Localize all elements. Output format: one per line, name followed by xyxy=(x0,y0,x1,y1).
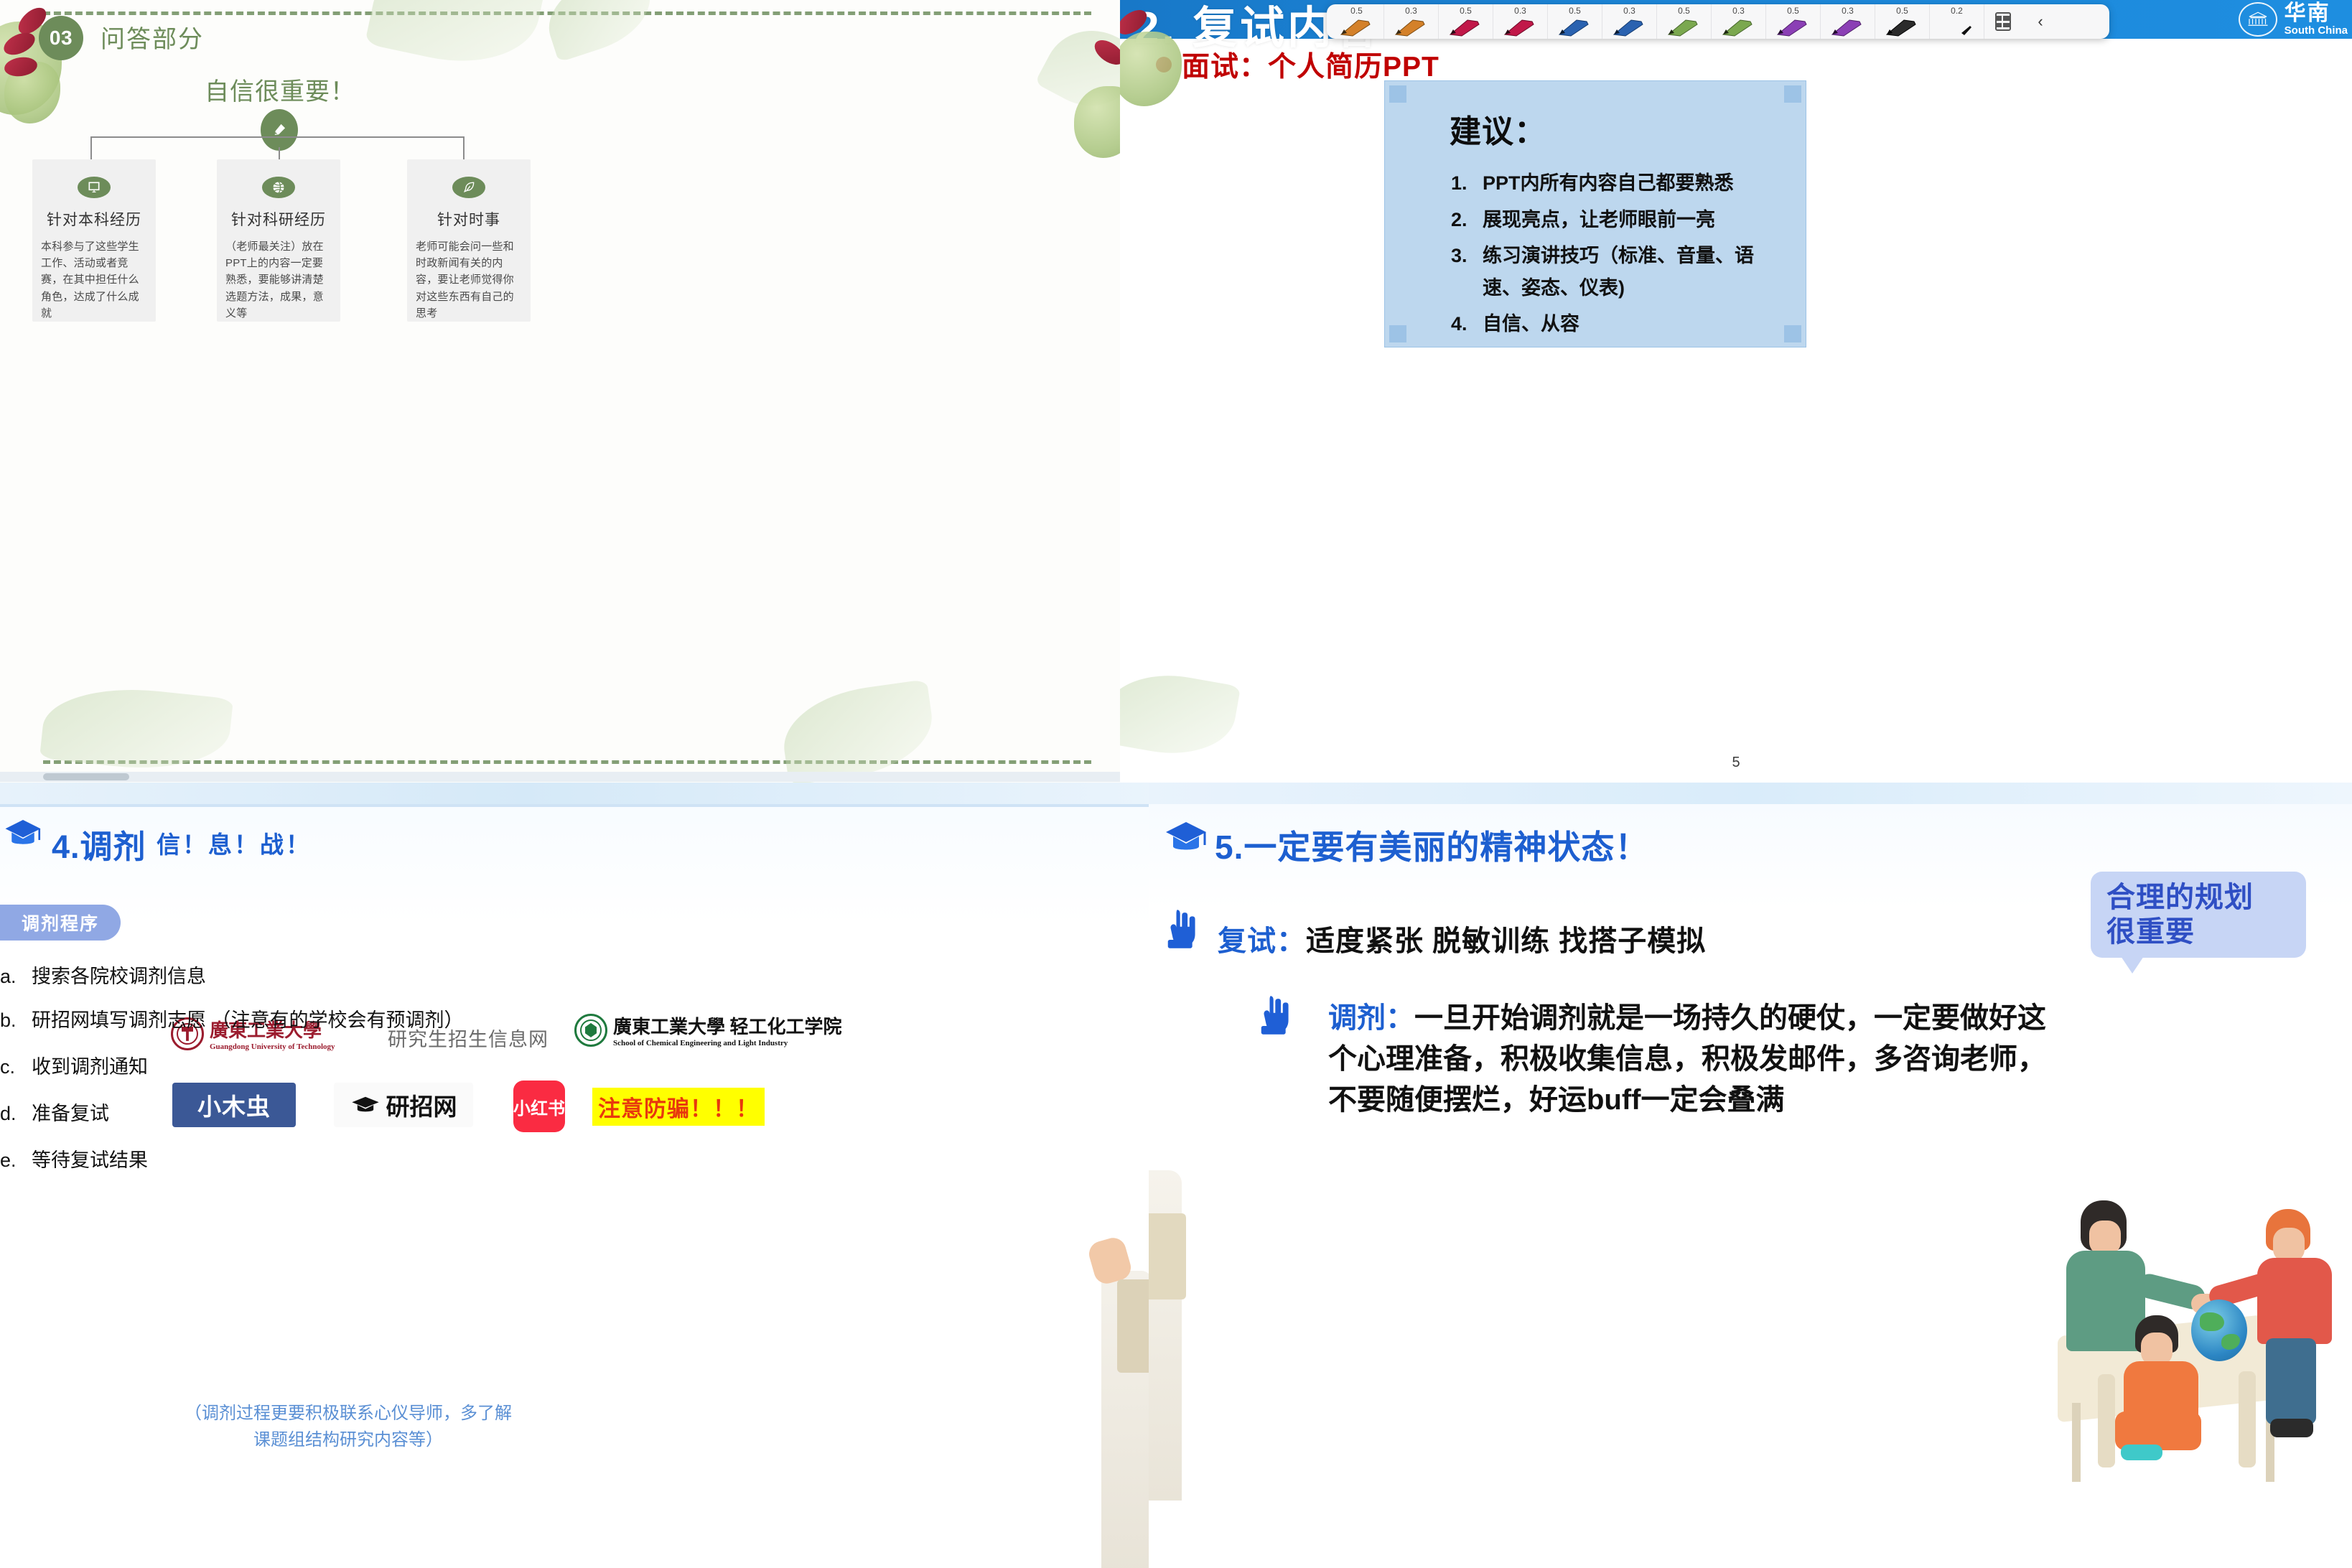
pen-size-label: 0.2 xyxy=(1951,6,1963,15)
university-seal-icon xyxy=(2239,2,2277,37)
dashed-border-bottom xyxy=(43,760,1091,764)
monitor-icon xyxy=(78,177,111,198)
list-item-number: 3. xyxy=(1451,240,1483,304)
spirit-row-1-key: 复试： xyxy=(1218,925,1306,957)
pen-icon xyxy=(1446,16,1486,37)
leaf-decoration xyxy=(1035,13,1120,123)
qa-card-title: 针对科研经历 xyxy=(231,208,326,230)
gdut-chemical-logo: 廣東工業大學 轻工化工学院 School of Chemical Enginee… xyxy=(574,1012,842,1047)
pointing-hand-icon xyxy=(1162,906,1200,949)
list-item: 4. 自信、从容 xyxy=(1451,308,1788,340)
qa-card-current-affairs: 针对时事 老师可能会问一些和时政新闻有关的内容，要让老师觉得你对这些东西有自己的… xyxy=(407,159,531,322)
pen-icon xyxy=(1501,16,1541,37)
pen-tool-6[interactable]: 0.5 xyxy=(1657,4,1712,39)
pen-icon xyxy=(1828,16,1868,37)
interview-heading-row: 面试：个人简历PPT xyxy=(1156,45,1439,85)
gdut-chemical-seal-icon xyxy=(574,1014,607,1047)
pen-size-label: 0.3 xyxy=(1623,6,1635,15)
pen-icon xyxy=(1610,16,1650,37)
list-item-text: 搜索各院校调剂信息 xyxy=(32,961,206,989)
leaf-decoration xyxy=(1120,664,1241,765)
list-item: e. 等待复试结果 xyxy=(0,1144,546,1172)
pen-tool-7[interactable]: 0.3 xyxy=(1712,4,1766,39)
list-item-number: 4. xyxy=(1451,308,1483,340)
gdut-chemical-name-cn: 廣東工業大學 轻工化工学院 xyxy=(613,1012,842,1039)
list-item-text: 练习演讲技巧（标准、音量、语速、姿态、仪表) xyxy=(1483,240,1788,304)
red-dot-icon xyxy=(1156,57,1172,73)
list-item-number: 2. xyxy=(1451,204,1483,236)
pencil-icon xyxy=(261,109,298,151)
slide-qa-panel: 03 问答部分 自信很重要！ 针对本科经历 本科参与了这些学生工作、活动或者竞赛… xyxy=(0,0,1120,783)
pen-tool-2[interactable]: 0.5 xyxy=(1439,4,1493,39)
slide-top-strip xyxy=(0,783,1163,807)
pointing-hand-icon xyxy=(1255,992,1294,1035)
list-item-text: 准备复试 xyxy=(32,1098,109,1126)
list-item-text: 展现亮点，让老师眼前一亮 xyxy=(1483,204,1715,236)
university-name-en: South China xyxy=(2285,25,2348,37)
resize-handle-bottom-left[interactable] xyxy=(1389,325,1406,342)
pen-size-label: 0.5 xyxy=(1787,6,1799,15)
connector-line xyxy=(90,136,92,159)
qa-card-title: 针对本科经历 xyxy=(47,208,141,230)
page-title: 5.一定要有美丽的精神状态！ xyxy=(1215,821,1648,869)
pen-icon xyxy=(1937,16,1977,37)
callout-line-1: 合理的规划 xyxy=(2106,880,2306,915)
pen-size-label: 0.5 xyxy=(1896,6,1908,15)
pen-size-label: 0.3 xyxy=(1405,6,1417,15)
slide-spirit-panel: 5.一定要有美丽的精神状态！ 合理的规划 很重要 复试：适度紧张 脱敏训练 找搭… xyxy=(1149,783,2352,1568)
pen-tool-9[interactable]: 0.3 xyxy=(1821,4,1875,39)
fraud-warning-badge: 注意防骗！！！ xyxy=(592,1088,765,1126)
sphere-icon xyxy=(262,177,295,198)
transfer-procedure-pill: 调剂程序 xyxy=(0,905,121,941)
pen-icon xyxy=(1719,16,1759,37)
list-item: a. 搜索各院校调剂信息 xyxy=(0,961,546,989)
connector-line xyxy=(90,136,464,138)
transfer-note: （调剂过程更要积极联系心仪导师，多了解课题组结构研究内容等） xyxy=(183,1400,513,1453)
pen-tool-5[interactable]: 0.3 xyxy=(1602,4,1657,39)
pen-tool-8[interactable]: 0.5 xyxy=(1766,4,1821,39)
pen-icon xyxy=(1664,16,1704,37)
list-item: b. 研招网填写调剂志愿 （注意有的学校会有预调剂） xyxy=(0,1004,546,1032)
pen-size-label: 0.5 xyxy=(1569,6,1581,15)
connector-line xyxy=(463,136,465,159)
list-item-label: a. xyxy=(0,966,24,988)
callout-bubble: 合理的规划 很重要 xyxy=(2091,872,2306,958)
qa-card-research: 针对科研经历 （老师最关注）放在PPT上的内容一定要熟悉，要能够讲清楚选题方法，… xyxy=(217,159,340,322)
list-item: 2. 展现亮点，让老师眼前一亮 xyxy=(1451,204,1788,236)
slide-top-strip xyxy=(1149,783,2352,804)
qa-card-body: （老师最关注）放在PPT上的内容一定要熟悉，要能够讲清楚选题方法，成果，意义等 xyxy=(225,238,332,322)
chevron-left-icon[interactable]: ‹ xyxy=(2022,4,2059,39)
qa-card-undergraduate: 针对本科经历 本科参与了这些学生工作、活动或者竞赛，在其中担任什么角色，达成了什… xyxy=(32,159,156,322)
list-item-label: b. xyxy=(0,1009,24,1032)
pen-icon xyxy=(1337,16,1377,37)
list-item-text: 自信、从容 xyxy=(1483,308,1579,340)
list-item-text: 收到调剂通知 xyxy=(32,1051,148,1079)
people-around-table-with-globe-illustration xyxy=(2029,1159,2345,1496)
pen-tool-0[interactable]: 0.5 xyxy=(1330,4,1384,39)
berry-decoration xyxy=(1,28,39,59)
list-item-text: 研招网填写调剂志愿 （注意有的学校会有预调剂） xyxy=(32,1004,464,1032)
leaf-decoration xyxy=(778,679,939,783)
suggestion-textbox[interactable]: 建议： 1. PPT内所有内容自己都要熟悉 2. 展现亮点，让老师眼前一亮 3.… xyxy=(1384,80,1806,347)
slide-transfer-panel: 4.调剂 信！息！战！ 调剂程序 廣東工業大學 Guangdong Univer… xyxy=(0,783,1163,1568)
suggestion-list: 1. PPT内所有内容自己都要熟悉 2. 展现亮点，让老师眼前一亮 3. 练习演… xyxy=(1451,167,1788,345)
resize-handle-top-left[interactable] xyxy=(1389,85,1406,103)
transfer-steps-list: a. 搜索各院校调剂信息 b. 研招网填写调剂志愿 （注意有的学校会有预调剂） … xyxy=(0,961,546,1188)
pen-icon xyxy=(1555,16,1595,37)
lab-coat-person-illustration xyxy=(1149,1170,1190,1501)
spirit-row-1: 复试：适度紧张 脱敏训练 找搭子模拟 xyxy=(1218,918,1706,959)
slide-interview-panel: 2. 复试内容 华南 South China 面试：个人简历PPT 建议： 1. xyxy=(1120,0,2352,783)
suggestion-title: 建议： xyxy=(1450,106,1546,151)
list-item: 3. 练习演讲技巧（标准、音量、语速、姿态、仪表) xyxy=(1451,240,1788,304)
page-title: 4.调剂 xyxy=(52,821,146,867)
pen-tool-3[interactable]: 0.3 xyxy=(1493,4,1548,39)
list-item-label: e. xyxy=(0,1149,24,1172)
graduation-cap-icon xyxy=(3,817,43,853)
list-item-label: c. xyxy=(0,1056,24,1078)
berry-decoration xyxy=(3,55,38,78)
list-item: c. 收到调剂通知 xyxy=(0,1051,546,1079)
pen-size-label: 0.3 xyxy=(1732,6,1745,15)
pen-toolbar[interactable]: 0.5 0.3 0.5 0.3 0.5 0.3 0.5 0.3 xyxy=(1327,4,2109,39)
gdut-chemical-name-en: School of Chemical Engineering and Light… xyxy=(613,1039,842,1047)
qa-card-body: 老师可能会问一些和时政新闻有关的内容，要让老师觉得你对这些东西有自己的思考 xyxy=(416,238,522,322)
leaf-decoration xyxy=(538,0,661,62)
slogan-wrapper: 自信很重要！ xyxy=(122,72,438,107)
list-item-text: PPT内所有内容自己都要熟悉 xyxy=(1483,167,1734,200)
pen-tool-11[interactable]: 0.2 xyxy=(1930,4,1984,39)
resize-handle-top-right[interactable] xyxy=(1784,85,1801,103)
university-brand: 华南 South China xyxy=(2239,0,2352,39)
list-item: d. 准备复试 xyxy=(0,1098,546,1126)
university-name-cn: 华南 xyxy=(2285,2,2348,25)
palette-grid-icon[interactable] xyxy=(1984,4,2022,39)
pen-size-label: 0.3 xyxy=(1842,6,1854,15)
list-item-label: d. xyxy=(0,1103,24,1125)
horizontal-scrollbar[interactable] xyxy=(0,772,1120,782)
leaf-decoration xyxy=(365,0,547,78)
page-title: 问答部分 xyxy=(101,19,204,55)
callout-line-2: 很重要 xyxy=(2106,915,2306,949)
feather-icon xyxy=(452,177,485,198)
section-number-badge: 03 xyxy=(39,16,83,60)
spirit-row-2: 调剂：一旦开始调剂就是一场持久的硬仗，一定要做好这个心理准备，积极收集信息，积极… xyxy=(1328,998,2046,1120)
slogan-text: 自信很重要！ xyxy=(122,72,438,107)
spirit-row-2-text: 一旦开始调剂就是一场持久的硬仗，一定要做好这个心理准备，积极收集信息，积极发邮件… xyxy=(1328,1002,2046,1116)
pen-size-label: 0.5 xyxy=(1460,6,1472,15)
pen-size-label: 0.5 xyxy=(1678,6,1690,15)
pen-size-label: 0.5 xyxy=(1350,6,1363,15)
page-subtitle: 信！息！战！ xyxy=(157,826,312,860)
pen-icon xyxy=(1773,16,1814,37)
interview-heading: 面试：个人简历PPT xyxy=(1182,45,1439,85)
pen-icon xyxy=(1391,16,1432,37)
qa-card-body: 本科参与了这些学生工作、活动或者竞赛，在其中担任什么角色，达成了什么成就 xyxy=(41,238,147,322)
list-item-number: 1. xyxy=(1451,167,1483,200)
scrollbar-thumb[interactable] xyxy=(43,773,129,780)
pen-size-label: 0.3 xyxy=(1514,6,1526,15)
spirit-row-1-text: 适度紧张 脱敏训练 找搭子模拟 xyxy=(1306,925,1706,957)
graduation-cap-icon xyxy=(1163,818,1209,860)
spirit-row-2-key: 调剂： xyxy=(1328,1002,1414,1034)
list-item-text: 等待复试结果 xyxy=(32,1144,148,1172)
pen-tool-4[interactable]: 0.5 xyxy=(1548,4,1602,39)
list-item: 1. PPT内所有内容自己都要熟悉 xyxy=(1451,167,1788,200)
pen-tool-1[interactable]: 0.3 xyxy=(1384,4,1439,39)
screen-share-canvas: 03 问答部分 自信很重要！ 针对本科经历 本科参与了这些学生工作、活动或者竞赛… xyxy=(0,0,2352,1568)
pen-icon xyxy=(1882,16,1923,37)
qa-card-title: 针对时事 xyxy=(437,208,500,230)
pen-tool-10[interactable]: 0.5 xyxy=(1875,4,1930,39)
slide-page-number: 5 xyxy=(1120,755,2352,771)
